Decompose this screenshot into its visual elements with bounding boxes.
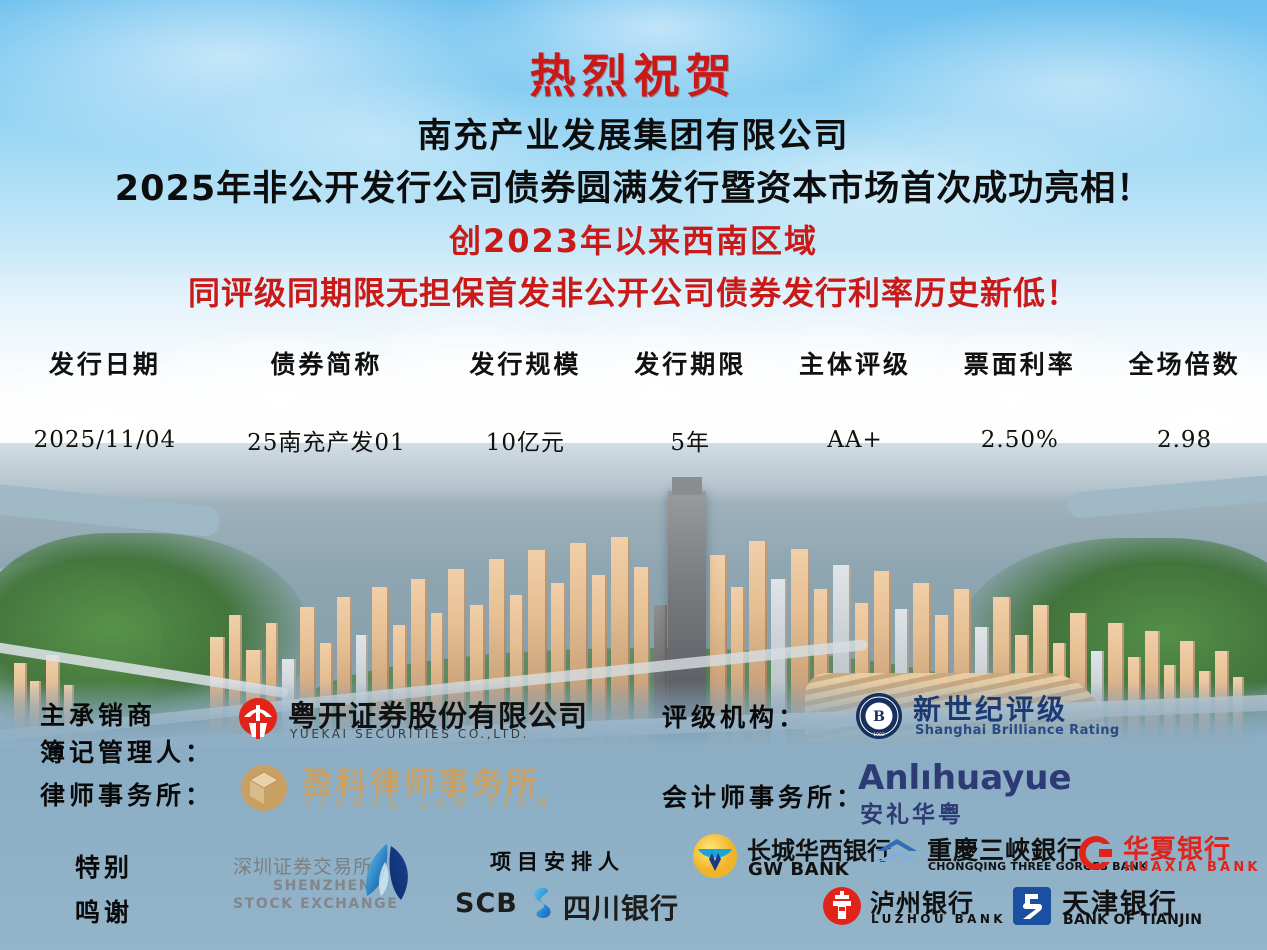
szse-name-cn: 深圳证券交易所 [233, 852, 373, 879]
cqtg-mark-icon [875, 837, 919, 869]
bond-facts-table: 发行日期 债券简称 发行规模 发行期限 主体评级 票面利率 全场倍数 2025/… [0, 345, 1267, 457]
label-project-arranger: 项目安排人 [490, 846, 625, 876]
celebration-poster: 热烈祝贺 南充产业发展集团有限公司 2025年非公开发行公司债券圆满发行暨资本市… [0, 0, 1267, 950]
label-special-thanks-line1: 特别 [75, 848, 133, 884]
label-law-firm: 律师事务所： [40, 776, 214, 812]
svg-text:B: B [873, 709, 885, 725]
cell-tenor: 5年 [608, 423, 773, 457]
label-bookrunner: 簿记管理人： [40, 733, 214, 769]
yuekai-name-en: YUEKAI SECURITIES CO.,LTD. [290, 727, 529, 741]
luzhou-name-en: LUZHOU BANK [871, 912, 1006, 926]
col-header-coupon-rate: 票面利率 [937, 345, 1102, 423]
anlihuayue-name-cn: 安礼华粤 [860, 795, 964, 829]
huaxia-mark-icon [1077, 834, 1115, 872]
anlihuayue-name-en: Anlıhuayue [858, 758, 1072, 798]
table-row: 2025/11/04 25南充产发01 10亿元 5年 AA+ 2.50% 2.… [0, 423, 1267, 457]
headline-line-1: 2025年非公开发行公司债券圆满发行暨资本市场首次成功亮相！ [0, 160, 1267, 211]
col-header-bond-name: 债券简称 [210, 345, 443, 423]
sichuan-bank-name-cn: 四川银行 [563, 887, 679, 927]
issuer-company-name: 南充产业发展集团有限公司 [0, 108, 1267, 157]
congratulation-title: 热烈祝贺 [0, 40, 1267, 106]
gw-bank-mark-icon [692, 833, 738, 879]
col-header-issue-size: 发行规模 [443, 345, 608, 423]
cell-coupon-rate: 2.50% [937, 423, 1102, 457]
label-rating-agency: 评级机构： [662, 698, 807, 734]
cell-bond-name: 25南充产发01 [210, 423, 443, 457]
yingke-name-en: YINGKE LAW FIRM [304, 796, 556, 811]
cell-issue-size: 10亿元 [443, 423, 608, 457]
col-header-oversubscription: 全场倍数 [1102, 345, 1267, 423]
label-special-thanks-line2: 鸣谢 [75, 893, 133, 929]
headline-line-3: 同评级同期限无担保首发非公开公司债券发行利率历史新低！ [0, 268, 1267, 314]
col-header-issuer-rating: 主体评级 [773, 345, 938, 423]
tianjin-mark-icon [1012, 886, 1052, 926]
tianjin-name-en: BANK OF TIANJIN [1063, 912, 1202, 928]
svg-text:1992: 1992 [873, 732, 885, 738]
headline-line-2: 创2023年以来西南区域 [0, 216, 1267, 262]
cell-issue-date: 2025/11/04 [0, 423, 210, 457]
table-header-row: 发行日期 债券简称 发行规模 发行期限 主体评级 票面利率 全场倍数 [0, 345, 1267, 423]
brilliance-name-cn: 新世纪评级 [913, 688, 1068, 728]
col-header-tenor: 发行期限 [608, 345, 773, 423]
col-header-issue-date: 发行日期 [0, 345, 210, 423]
brilliance-name-en: Shanghai Brilliance Rating [915, 723, 1120, 738]
label-lead-underwriter: 主承销商 [40, 696, 156, 732]
luzhou-mark-icon [822, 886, 862, 926]
cell-oversubscription: 2.98 [1102, 423, 1267, 457]
yuekai-mark-icon [236, 697, 280, 741]
brilliance-seal-icon: B 1992 [855, 692, 903, 740]
huaxia-name-en: HUAXIA BANK [1124, 860, 1261, 875]
sichuan-bank-mark-icon [527, 886, 557, 920]
szse-leaf-icon [357, 842, 415, 908]
yingke-cube-icon [240, 764, 292, 812]
sichuan-bank-name-en: SCB [455, 888, 518, 919]
gw-bank-name-en: GW BANK [748, 859, 849, 880]
cell-issuer-rating: AA+ [773, 423, 938, 457]
label-accounting-firm: 会计师事务所： [662, 778, 865, 814]
